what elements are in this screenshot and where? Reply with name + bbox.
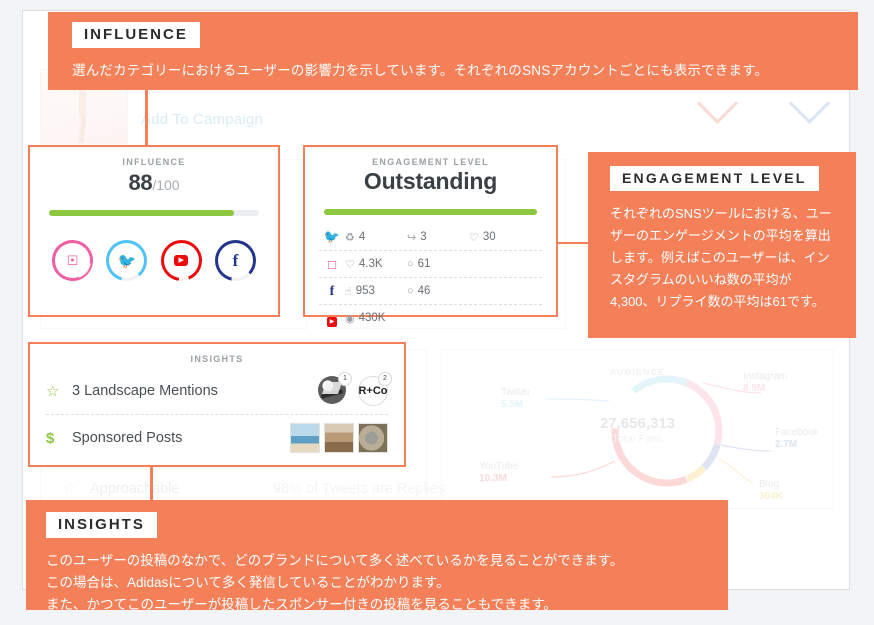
insights-card: INSIGHTS ☆ 3 Landscape Mentions 1 R+Co 2… [28,342,406,467]
insights-row-sponsored[interactable]: $ Sponsored Posts [46,415,388,461]
insights-card-label: INSIGHTS [30,354,404,364]
sponsored-post-thumbs [290,423,388,453]
stat-retweets: ♻4 [345,231,407,244]
influence-score-value: 88 [128,170,152,195]
insights-row-mentions[interactable]: ☆ 3 Landscape Mentions 1 R+Co 2 [46,368,388,415]
connector-insights [150,466,153,502]
callout-engagement: ENGAGEMENT LEVEL それぞれのSNSツールにおける、ユーザーのエン… [588,152,856,338]
stat-views: ◉430K [345,312,407,325]
youtube-icon[interactable]: ▶ [161,240,202,281]
audience-legend-twitter: Twitter 5.5M [501,387,530,411]
stat-likes: ♡4.3K [345,258,407,271]
audience-legend-blog: Blog 304K [759,479,783,503]
engagement-row-twitter: 🐦 ♻4 ↪3 ♡30 [319,224,542,251]
insights-row-label: Approachable [90,481,180,497]
engagement-progress-fill [324,209,537,215]
callout-insights-chip: INSIGHTS [46,512,157,538]
facebook-icon[interactable]: f [215,240,256,281]
youtube-icon: ▶ [319,311,345,326]
influence-progress-track [49,210,259,216]
instagram-icon[interactable]: ☐● [52,240,93,281]
influence-social-row: ☐● 🐦 ▶ f [52,240,256,281]
callout-influence-body: 選んだカテゴリーにおけるユーザーの影響力を示しています。それぞれのSNSアカウン… [72,59,858,79]
adidas-brand-icon[interactable]: 1 [318,376,348,406]
engagement-row-instagram: ☐ ♡4.3K ○61 [319,251,542,278]
callout-influence-chip: INFLUENCE [72,22,200,48]
audience-chart: AUDIENCE 27,656,313 Total Fans Instagram [441,349,834,509]
stat-likes: ♡30 [469,231,531,244]
post-thumbnail[interactable] [358,423,388,453]
audience-legend-facebook: Facebook 2.7M [775,427,819,451]
callout-engagement-chip: ENGAGEMENT LEVEL [610,166,819,191]
stat-comments: ○61 [407,258,469,270]
callout-engagement-body: それぞれのSNSツールにおける、ユーザーのエンゲージメントの平均を算出します。例… [610,203,835,313]
star-icon: ☆ [63,481,76,497]
chevron-down-icon [795,89,837,115]
callout-influence: INFLUENCE 選んだカテゴリーにおけるユーザーの影響力を示しています。それ… [48,12,858,90]
audience-legend-instagram: Instagram 8.9M [743,371,787,395]
engagement-row-facebook: f ☝953 ○46 [319,278,542,305]
twitter-icon: 🐦 [319,229,345,245]
callout-insights-line3: また、かつてこのユーザーが投稿したスポンサー付きの投稿を見ることもできます。 [46,594,728,616]
engagement-progress-track [324,209,537,215]
post-thumbnail[interactable] [290,423,320,453]
star-icon: ☆ [46,382,72,400]
callout-insights: INSIGHTS このユーザーの投稿のなかで、どのブランドについて多く述べている… [26,500,728,610]
connector-influence [145,88,148,148]
insights-row-value: 98% of Tweets are Replies [273,481,445,497]
influence-card: INFLUENCE 88/100 ☐● 🐦 ▶ f [28,145,280,317]
stat-likes: ☝953 [345,285,407,298]
chevron-down-icon [703,89,745,115]
engagement-card-label: ENGAGEMENT LEVEL [305,157,556,167]
rco-brand-icon[interactable]: R+Co 2 [358,376,388,406]
twitter-icon[interactable]: 🐦 [106,240,147,281]
influence-score-max: /100 [152,177,179,193]
influence-card-label: INFLUENCE [30,157,278,167]
connector-engagement [558,242,590,244]
stat-comments: ○46 [407,285,469,297]
insights-row-label: Sponsored Posts [72,430,290,446]
engagement-value: Outstanding [305,168,556,195]
audience-legend-youtube: YouTube 10.3M [479,461,518,485]
engagement-row-youtube: ▶ ◉430K [319,305,542,331]
insights-row-label: 3 Landscape Mentions [72,383,318,399]
influence-progress-fill [49,210,234,216]
instagram-icon: ☐ [319,257,345,272]
facebook-icon: f [319,283,345,300]
insights-brand-badges: 1 R+Co 2 [318,376,388,406]
engagement-card: ENGAGEMENT LEVEL Outstanding 🐦 ♻4 ↪3 ♡30… [303,145,558,317]
influence-score: 88/100 [30,170,278,196]
callout-insights-line1: このユーザーの投稿のなかで、どのブランドについて多く述べているかを見ることができ… [46,550,728,572]
callout-insights-line2: この場合は、Adidasについて多く発信していることがわかります。 [46,572,728,594]
stat-replies: ↪3 [407,231,469,244]
dollar-icon: $ [46,430,72,447]
insights-row-approachable: ☆ Approachable 98% of Tweets are Replies [63,481,180,497]
post-thumbnail[interactable] [324,423,354,453]
add-to-campaign-link[interactable]: Add To Campaign [141,111,263,128]
